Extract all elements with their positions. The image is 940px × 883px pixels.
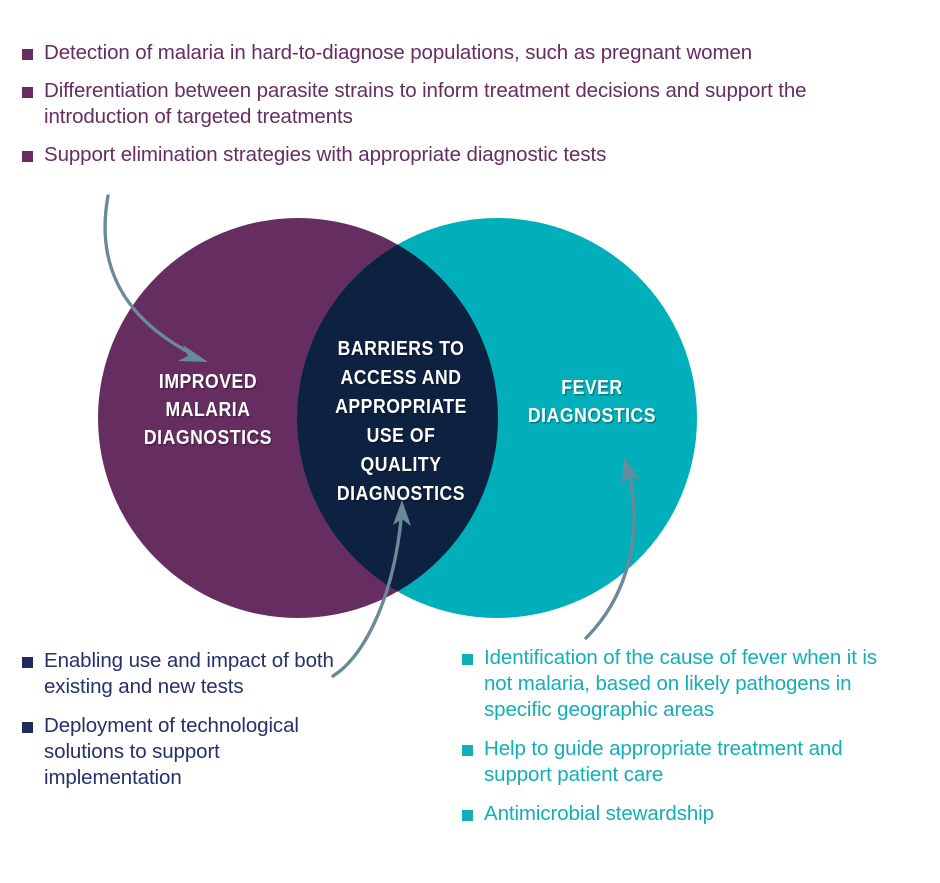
- square-bullet-icon: [462, 654, 473, 665]
- access-and-use-bullet-list: Enabling use and impact of both existing…: [8, 648, 358, 804]
- fever-diagnostics-bullet-list: Identification of the cause of fever whe…: [448, 645, 888, 840]
- square-bullet-icon: [462, 745, 473, 756]
- list-item-label: Antimicrobial stewardship: [484, 801, 888, 827]
- square-bullet-icon: [22, 722, 33, 733]
- list-item-label: Enabling use and impact of both existing…: [44, 648, 358, 700]
- list-item: Identification of the cause of fever whe…: [448, 645, 888, 723]
- list-item-label: Deployment of technological solutions to…: [44, 713, 358, 791]
- list-item-label: Help to guide appropriate treatment and …: [484, 736, 888, 788]
- venn-diagram-figure: Detection of malaria in hard-to-diagnose…: [0, 0, 940, 883]
- list-item: Enabling use and impact of both existing…: [8, 648, 358, 700]
- list-item: Antimicrobial stewardship: [448, 801, 888, 827]
- square-bullet-icon: [22, 657, 33, 668]
- list-item: Deployment of technological solutions to…: [8, 713, 358, 791]
- square-bullet-icon: [462, 810, 473, 821]
- list-item: Help to guide appropriate treatment and …: [448, 736, 888, 788]
- list-item-label: Identification of the cause of fever whe…: [484, 645, 888, 723]
